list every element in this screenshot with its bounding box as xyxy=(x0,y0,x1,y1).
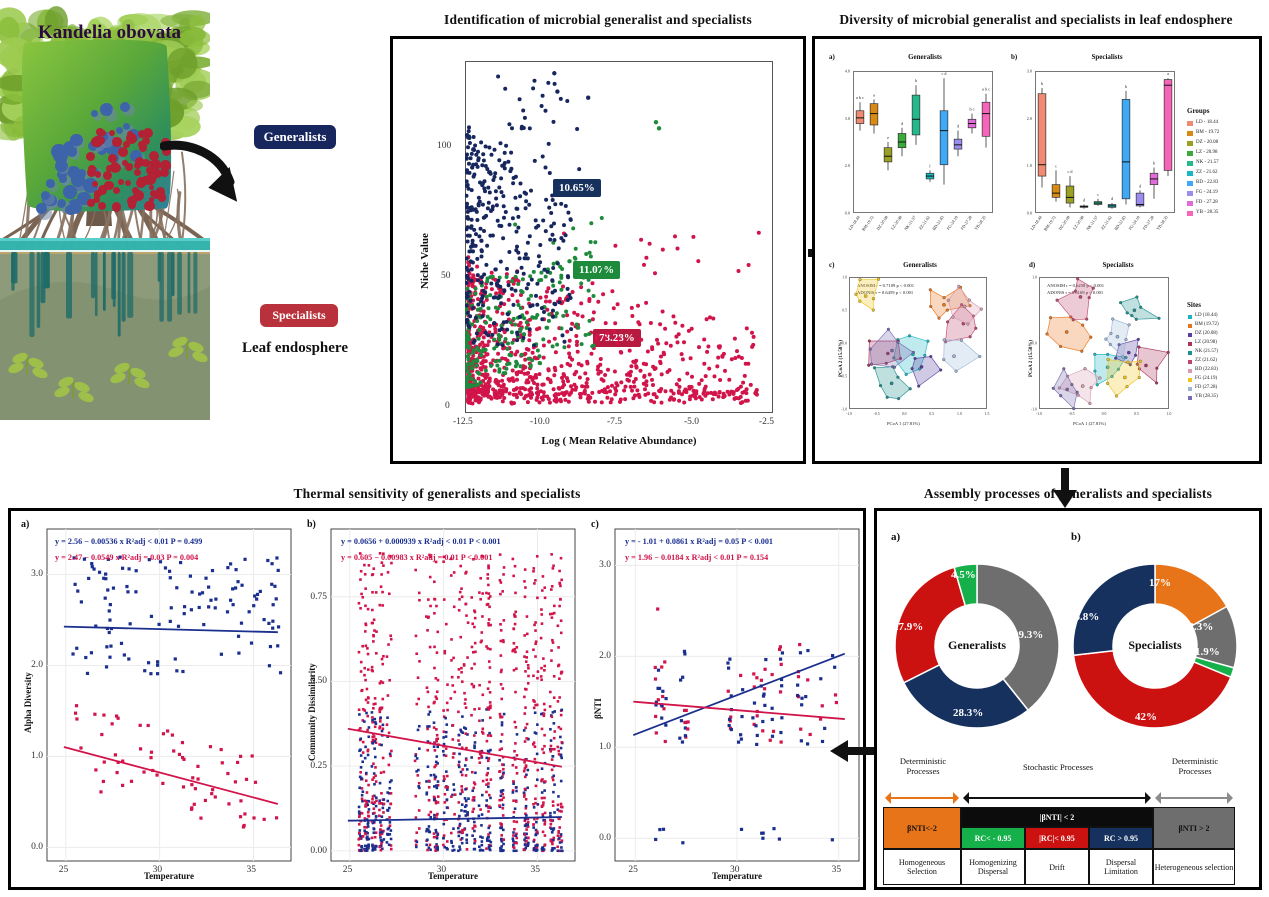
scatter-xtick-2: -7.5 xyxy=(607,417,622,427)
donut-b-label-42: 42% xyxy=(1135,711,1157,723)
svg-text:0.0: 0.0 xyxy=(1102,412,1107,416)
svg-text:c: c xyxy=(1055,163,1057,168)
svg-text:NK-21.57: NK-21.57 xyxy=(903,215,917,232)
thermal-ytick: 0.00 xyxy=(307,846,327,856)
generalist-microbe-dot xyxy=(67,147,77,157)
thermal-xtick: 25 xyxy=(628,865,638,875)
svg-text:1.0: 1.0 xyxy=(1032,275,1037,279)
process-cell-rc-gt-095: RC > 0.95 xyxy=(1089,827,1153,849)
generalist-microbe-dot xyxy=(41,191,50,200)
svg-text:YB-28.35: YB-28.35 xyxy=(1155,215,1169,231)
specialist-microbe-dot xyxy=(94,190,102,198)
svg-text:d: d xyxy=(1083,197,1086,202)
svg-text:LZ-20.98: LZ-20.98 xyxy=(1072,215,1085,231)
thermal-ytick: 1.0 xyxy=(23,751,43,761)
panel-b-eq-generalists: y = 0.0656 + 0.000939 x R²adj < 0.01 P <… xyxy=(341,537,501,546)
donut-b-label-12: 12.3% xyxy=(1183,621,1213,633)
thermal-ytick: 0.0 xyxy=(23,842,43,852)
generalist-microbe-dot xyxy=(116,127,123,134)
process-name-drift: Drift xyxy=(1025,849,1089,885)
specialist-microbe-dot xyxy=(125,180,131,186)
process-cell-rc-lt-neg095: RC< - 0.95 xyxy=(961,827,1025,849)
scatter-ytick-0: 0 xyxy=(445,401,450,411)
svg-text:d: d xyxy=(1111,196,1114,201)
generalist-microbe-dot xyxy=(36,203,47,214)
assembly-panel-title: Assembly processes of generalists and sp… xyxy=(874,486,1262,502)
svg-text:ZZ-21.62: ZZ-21.62 xyxy=(1100,215,1113,231)
svg-text:b: b xyxy=(915,78,917,83)
generalist-microbe-dot xyxy=(55,160,67,172)
svg-text:2.0: 2.0 xyxy=(845,163,850,168)
specialist-microbe-dot xyxy=(104,181,113,190)
svg-text:1.0: 1.0 xyxy=(957,412,962,416)
svg-text:e: e xyxy=(887,135,889,140)
thermal-ytick: 1.0 xyxy=(591,742,611,752)
thermal-subpanel-b-tag: b) xyxy=(307,519,316,530)
svg-text:ZZ-21.62: ZZ-21.62 xyxy=(918,215,931,231)
specialist-microbe-dot xyxy=(92,181,98,187)
svg-text:FG-24.19: FG-24.19 xyxy=(945,215,958,231)
svg-text:-1.0: -1.0 xyxy=(846,412,852,416)
process-cell-bnti-lt-neg2: βNTI<-2 xyxy=(883,807,961,849)
generalists-tag: Generalists xyxy=(254,125,336,149)
svg-text:0.0: 0.0 xyxy=(845,211,850,216)
thermal-ytick: 0.0 xyxy=(591,833,611,843)
generalist-microbe-dot xyxy=(65,205,75,215)
scatter-xtick-4: -2.5 xyxy=(759,417,774,427)
scatter-panel-title: Identification of microbial generalist a… xyxy=(390,12,806,28)
specialist-microbe-dot xyxy=(118,147,128,157)
thermal-xtick: 35 xyxy=(832,865,842,875)
process-header-deterministic-right: Deterministic Processes xyxy=(1155,757,1235,777)
svg-text:NK-21.57: NK-21.57 xyxy=(1085,215,1099,232)
svg-text:-1.0: -1.0 xyxy=(1031,407,1037,411)
donut-a-label-39: 39.3% xyxy=(1013,629,1043,641)
svg-text:a b c: a b c xyxy=(856,95,864,100)
svg-text:YB-28.35: YB-28.35 xyxy=(973,215,987,231)
svg-text:2.0: 2.0 xyxy=(1027,116,1032,121)
scatter-ytick-50: 50 xyxy=(441,271,451,281)
process-cell-abs-rc-lt-095: |RC|< 0.95 xyxy=(1025,827,1089,849)
svg-text:DZ-20.08: DZ-20.08 xyxy=(875,215,889,231)
panel-c-eq-generalists: y = - 1.01 + 0.0861 x R²adj = 0.05 P < 0… xyxy=(625,537,773,546)
svg-text:b: b xyxy=(1125,84,1127,89)
arrow-tree-to-leaf xyxy=(160,140,250,210)
thermal-ytick: 0.50 xyxy=(307,676,327,686)
specialist-microbe-dot xyxy=(95,171,101,177)
scatter-x-axis-label: Log ( Mean Relative Abundance) xyxy=(465,435,773,447)
thermal-subpanel-c-tag: c) xyxy=(591,519,599,530)
scatter-xtick-0: -12.5 xyxy=(453,417,473,427)
specialist-microbe-dot xyxy=(134,169,141,176)
svg-text:LD-18.44: LD-18.44 xyxy=(847,214,861,231)
process-arrows xyxy=(877,789,1265,807)
svg-text:0.0: 0.0 xyxy=(842,341,847,345)
panel-a-ylabel: Alpha Diversity xyxy=(23,672,33,733)
svg-text:LD-18.44: LD-18.44 xyxy=(1029,214,1043,231)
svg-text:1.0: 1.0 xyxy=(1027,163,1032,168)
thermal-xtick: 30 xyxy=(437,865,447,875)
svg-text:3.0: 3.0 xyxy=(845,116,850,121)
specialist-microbe-dot xyxy=(128,201,135,208)
scatter-xtick-3: -5.0 xyxy=(684,417,699,427)
generalist-microbe-dot xyxy=(63,185,77,199)
panel-c-ylabel: βNTI xyxy=(593,698,603,719)
svg-text:LZ-20.98: LZ-20.98 xyxy=(890,215,903,231)
panel-a-eq-generalists: y = 2.56 − 0.00536 x R²adj < 0.01 P = 0.… xyxy=(55,537,202,546)
donut-a-label-28: 28.3% xyxy=(953,707,983,719)
svg-text:3.0: 3.0 xyxy=(1027,69,1032,74)
diversity-panel: a) Generalists b) Specialists Groups LD … xyxy=(812,36,1262,464)
process-midband-label: |βNTI| < 2 xyxy=(961,807,1153,827)
svg-text:0.0: 0.0 xyxy=(1032,341,1037,345)
specialist-microbe-dot xyxy=(118,179,124,185)
generalist-microbe-dot xyxy=(51,144,66,159)
generalist-microbe-dot xyxy=(46,179,55,188)
specialist-microbe-dot xyxy=(108,154,117,163)
svg-text:a b c: a b c xyxy=(982,87,990,92)
thermal-ytick: 2.0 xyxy=(591,651,611,661)
specialist-microbe-dot xyxy=(103,171,112,180)
svg-text:a: a xyxy=(873,92,875,97)
specialist-microbe-dot xyxy=(126,133,137,144)
scatter-xtick-1: -10.0 xyxy=(530,417,550,427)
panel-b-eq-specialists: y = 0.605 − 0.00983 x R²adj = 0.01 P < 0… xyxy=(341,553,492,562)
generalist-microbe-dot xyxy=(70,134,83,147)
leaf-endosphere-caption: Leaf endosphere xyxy=(196,340,394,357)
svg-text:BD-22.83: BD-22.83 xyxy=(931,215,945,231)
thermal-xtick: 30 xyxy=(153,865,163,875)
svg-text:-0.5: -0.5 xyxy=(841,374,847,378)
svg-text:0.5: 0.5 xyxy=(1134,412,1139,416)
donut-b-label-1-9: 1.9% xyxy=(1195,646,1220,658)
svg-text:b c: b c xyxy=(970,107,975,112)
svg-text:1.5: 1.5 xyxy=(985,412,990,416)
diversity-panel-title: Diversity of microbial generalist and sp… xyxy=(806,12,1266,28)
thermal-xtick: 30 xyxy=(730,865,740,875)
svg-text:0.0: 0.0 xyxy=(902,412,907,416)
process-name-homogeneous-selection: Homogeneous Selection xyxy=(883,849,961,885)
process-name-homogenizing-dispersal: Homogenizing Dispersal xyxy=(961,849,1025,885)
svg-text:f: f xyxy=(929,163,931,168)
scatter-y-axis-label: Niche Value xyxy=(419,233,431,289)
thermal-panel-title: Thermal sensitivity of generalists and s… xyxy=(8,486,866,502)
svg-text:BD-22.83: BD-22.83 xyxy=(1113,215,1127,231)
assembly-panel: a) b) Generalists Specialists 39.3% 28.3… xyxy=(874,508,1262,890)
thermal-ytick: 3.0 xyxy=(591,560,611,570)
svg-text:DZ-20.08: DZ-20.08 xyxy=(1057,215,1071,231)
thermal-ytick: 2.0 xyxy=(23,660,43,670)
panel-a-eq-specialists: y = 2.47 − 0.0549 x R²adj = 0.03 P = 0.0… xyxy=(55,553,198,562)
thermal-xtick: 35 xyxy=(246,865,256,875)
specialist-microbe-dot xyxy=(112,137,121,146)
svg-text:-0.5: -0.5 xyxy=(1068,412,1074,416)
thermal-graphics xyxy=(11,511,869,893)
svg-text:d: d xyxy=(1139,183,1142,188)
process-cell-bnti-gt-2: βNTI > 2 xyxy=(1153,807,1235,849)
diversity-graphics: a b cLD-18.44aBM-19.72eDZ-20.08dLZ-20.98… xyxy=(815,39,1265,467)
donut-a-label-4: 4.5% xyxy=(951,569,976,581)
specialist-microbe-dot xyxy=(112,202,121,211)
specialist-microbe-dot xyxy=(92,136,103,147)
donut-charts xyxy=(877,511,1265,761)
thermal-ytick: 0.75 xyxy=(307,592,327,602)
process-name-heterogeneous-selection: Heterogeneous selection xyxy=(1153,849,1235,885)
thermal-ytick: 0.25 xyxy=(307,761,327,771)
process-name-dispersal-limitation: Dispersal Limitation xyxy=(1089,849,1153,885)
thermal-ytick: 3.0 xyxy=(23,569,43,579)
thermal-subpanel-a-tag: a) xyxy=(21,519,29,530)
arrow-assembly-to-thermal xyxy=(820,738,876,764)
specialist-microbe-dot xyxy=(150,190,157,197)
scatter-panel: Niche Value Log ( Mean Relative Abundanc… xyxy=(390,36,806,464)
donut-b-label-26: 26.8% xyxy=(1069,611,1099,623)
generalist-microbe-dot xyxy=(57,199,66,208)
svg-text:BM-19.72: BM-19.72 xyxy=(861,215,875,232)
svg-text:FG-24.19: FG-24.19 xyxy=(1127,215,1140,231)
svg-text:d: d xyxy=(901,121,904,126)
svg-text:b: b xyxy=(1041,81,1043,86)
svg-text:c d: c d xyxy=(942,71,948,76)
specialists-tag: Specialists xyxy=(260,304,338,327)
specialist-microbe-dot xyxy=(132,187,139,194)
process-header-stochastic: Stochastic Processes xyxy=(963,763,1153,773)
svg-text:1.0: 1.0 xyxy=(1167,412,1172,416)
svg-text:-1.0: -1.0 xyxy=(841,407,847,411)
svg-text:0.5: 0.5 xyxy=(929,412,934,416)
svg-text:BM-19.72: BM-19.72 xyxy=(1043,215,1057,232)
specialist-microbe-dot xyxy=(87,199,94,206)
donut-a-label-27: 27.9% xyxy=(893,621,923,633)
specialist-microbe-dot xyxy=(141,176,150,185)
svg-text:FD-27.28: FD-27.28 xyxy=(1141,215,1154,231)
svg-text:-1.0: -1.0 xyxy=(1036,412,1042,416)
svg-text:c d: c d xyxy=(1068,169,1074,174)
scatter-points xyxy=(465,61,773,413)
thermal-xtick: 25 xyxy=(59,865,69,875)
donut-b-label-17: 17% xyxy=(1149,577,1171,589)
generalist-microbe-dot xyxy=(103,107,112,116)
process-header-deterministic-left: Deterministic Processes xyxy=(885,757,961,777)
svg-text:0.0: 0.0 xyxy=(1027,211,1032,216)
svg-text:b: b xyxy=(1153,161,1155,166)
thermal-xtick: 35 xyxy=(530,865,540,875)
svg-text:1.0: 1.0 xyxy=(842,275,847,279)
thermal-xtick: 25 xyxy=(343,865,353,875)
svg-text:4.0: 4.0 xyxy=(845,69,850,74)
svg-text:-0.5: -0.5 xyxy=(874,412,880,416)
svg-text:d: d xyxy=(957,124,960,129)
svg-text:c: c xyxy=(1097,192,1099,197)
panel-c-eq-specialists: y = 1.96 − 0.0184 x R²adj < 0.01 P = 0.1… xyxy=(625,553,768,562)
svg-text:FD-27.28: FD-27.28 xyxy=(959,215,972,231)
scatter-ytick-100: 100 xyxy=(437,141,451,151)
svg-text:a: a xyxy=(1167,71,1169,76)
svg-text:0.5: 0.5 xyxy=(842,308,847,312)
specialist-microbe-dot xyxy=(122,160,128,166)
thermal-panel: a) b) c) y = 2.56 − 0.00536 x R²adj < 0.… xyxy=(8,508,866,890)
